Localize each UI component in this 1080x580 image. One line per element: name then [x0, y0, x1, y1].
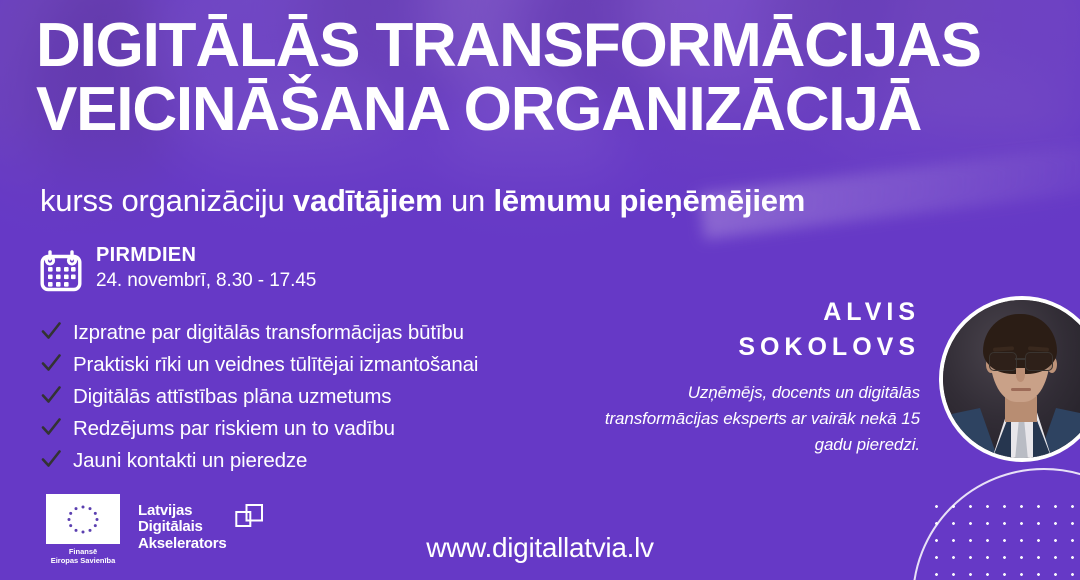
schedule-day: PIRMDIEN [96, 245, 316, 266]
subtitle-bold-2: lēmumu pieņēmējiem [493, 183, 805, 218]
schedule-datetime: 24. novembrī, 8.30 - 17.45 [96, 270, 316, 292]
check-icon [40, 448, 62, 475]
list-item-label: Digitālās attīstības plāna uzmetums [73, 385, 391, 409]
schedule-text: PIRMDIEN 24. novembrī, 8.30 - 17.45 [96, 245, 316, 292]
calendar-icon [40, 248, 82, 297]
subtitle-bold-1: vadītājiem [293, 183, 443, 218]
page-title: DIGITĀLĀS TRANSFORMĀCIJAS VEICINĀŠANA OR… [36, 14, 1046, 142]
headline-line-2: VEICINĀŠANA ORGANIZĀCIJĀ [36, 78, 1046, 142]
promo-banner: DIGITĀLĀS TRANSFORMĀCIJAS VEICINĀŠANA OR… [0, 0, 1080, 580]
speaker-last-name: SOKOLOVS [560, 330, 920, 365]
list-item: Digitālās attīstības plāna uzmetums [40, 382, 478, 412]
speaker-first-name: ALVIS [560, 295, 920, 330]
subtitle-lead: kurss organizāciju [40, 183, 293, 218]
check-icon [40, 352, 62, 379]
feature-list: Izpratne par digitālās transformācijas b… [40, 318, 478, 476]
speaker-portrait [939, 296, 1080, 462]
website-url: www.digitallatvia.lv [0, 532, 1080, 564]
list-item-label: Jauni kontakti un pieredze [73, 449, 307, 473]
list-item: Jauni kontakti un pieredze [40, 446, 478, 476]
speaker-bio: Uzņēmējs, docents un digitālās transform… [570, 380, 920, 457]
subtitle-mid: un [443, 183, 494, 218]
list-item-label: Praktiski rīki un veidnes tūlītējai izma… [73, 353, 478, 377]
lda-line-1: Latvijas [138, 503, 227, 520]
check-icon [40, 384, 62, 411]
check-icon [40, 320, 62, 347]
list-item-label: Izpratne par digitālās transformācijas b… [73, 321, 464, 345]
check-icon [40, 416, 62, 443]
overlapping-squares-icon [235, 503, 265, 536]
subtitle: kurss organizāciju vadītājiem un lēmumu … [40, 183, 805, 219]
list-item: Praktiski rīki un veidnes tūlītējai izma… [40, 350, 478, 380]
list-item-label: Redzējums par riskiem un to vadību [73, 417, 395, 441]
speaker-name: ALVIS SOKOLOVS [560, 295, 920, 364]
schedule-block: PIRMDIEN 24. novembrī, 8.30 - 17.45 [40, 245, 316, 297]
list-item: Redzējums par riskiem un to vadību [40, 414, 478, 444]
headline-line-1: DIGITĀLĀS TRANSFORMĀCIJAS [36, 14, 1046, 78]
list-item: Izpratne par digitālās transformācijas b… [40, 318, 478, 348]
